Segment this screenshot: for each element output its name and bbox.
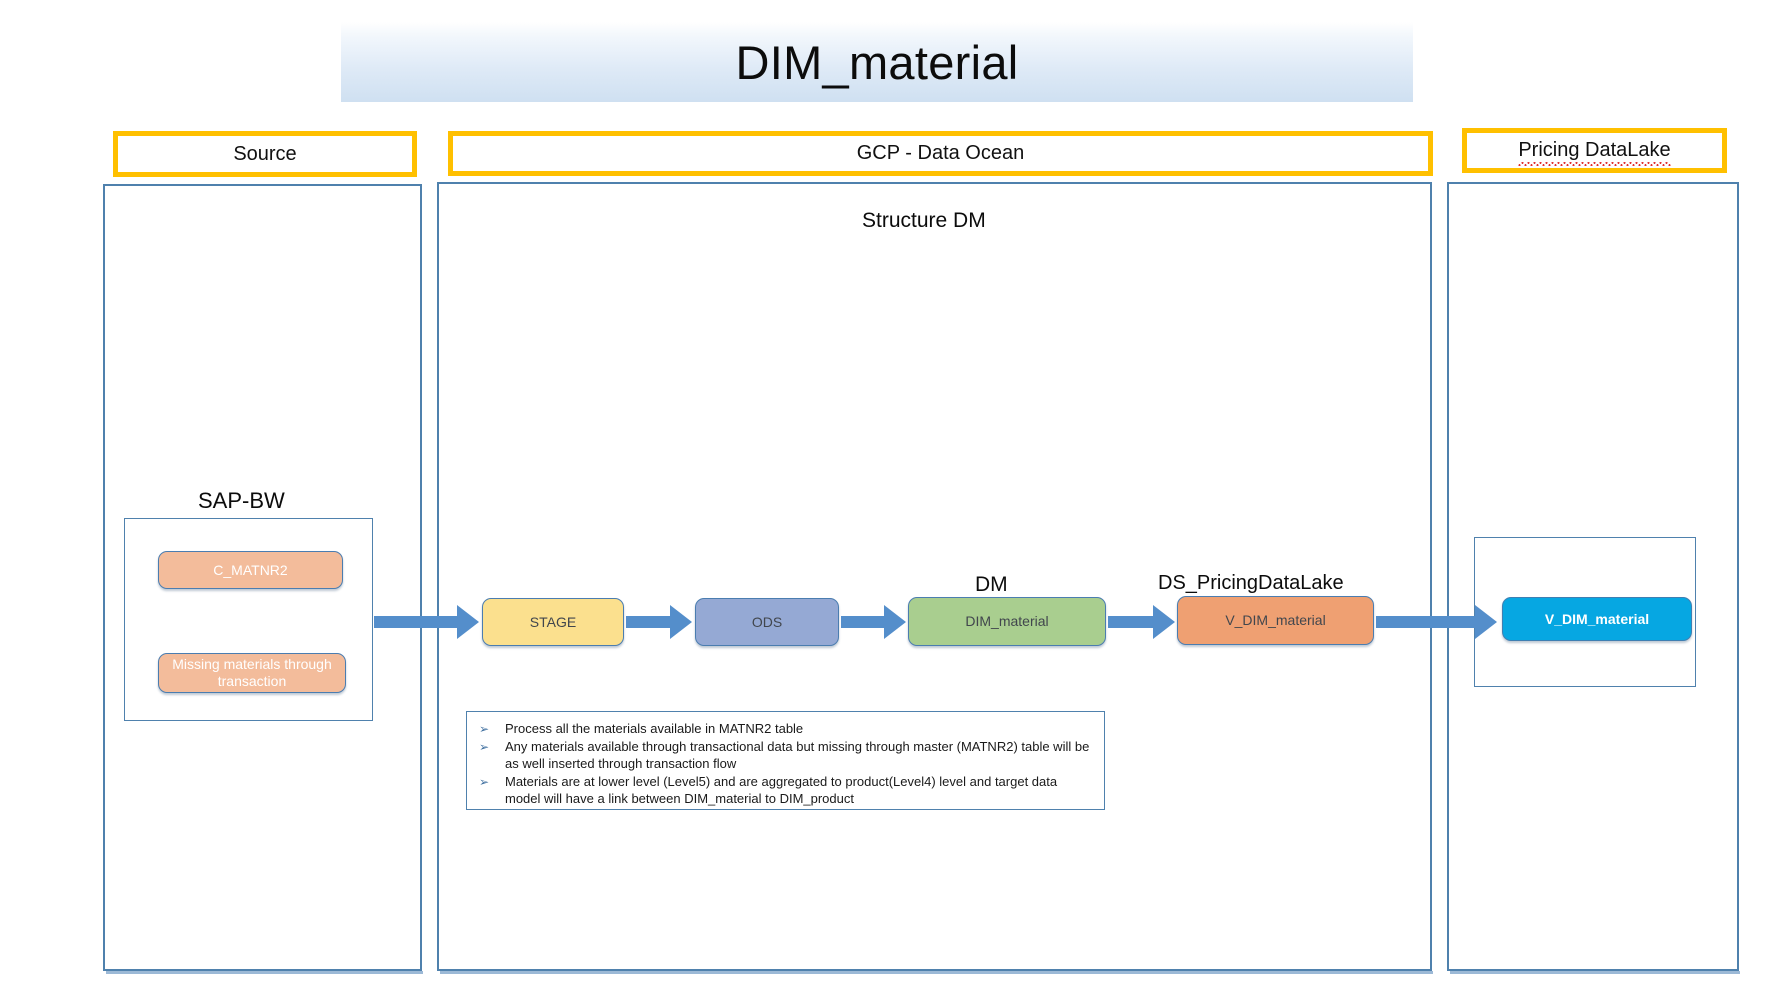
process-ods[interactable]: ODS (695, 598, 839, 646)
process-stage-label: STAGE (530, 614, 576, 631)
note-item-text: Process all the materials available in M… (505, 720, 1094, 738)
title-banner: DIM_material (341, 22, 1413, 102)
arrow-right-icon-source-to-stage (374, 616, 458, 628)
ds-pricing-datalake-label: DS_PricingDataLake (1158, 572, 1344, 595)
notes-box: ➢ Process all the materials available in… (466, 711, 1105, 810)
process-v-dim-material-ds[interactable]: V_DIM_material (1177, 596, 1374, 645)
lane-header-gcp: GCP - Data Ocean (448, 131, 1433, 176)
process-dim-material-label: DIM_material (965, 613, 1048, 630)
note-item: ➢ Process all the materials available in… (479, 720, 1094, 738)
arrow-right-icon-stage-to-ods (626, 616, 671, 628)
process-ods-label: ODS (752, 614, 782, 631)
process-dim-material[interactable]: DIM_material (908, 597, 1106, 646)
page-title: DIM_material (735, 39, 1018, 86)
lane-header-source-label: Source (233, 143, 296, 166)
lane-header-gcp-label: GCP - Data Ocean (857, 142, 1024, 165)
entity-c-matnr2[interactable]: C_MATNR2 (158, 551, 343, 589)
process-v-dim-material-dataocean[interactable]: V_DIM_material (1502, 597, 1692, 641)
note-item-text: Materials are at lower level (Level5) an… (505, 773, 1094, 808)
bullet-arrow-icon: ➢ (479, 773, 505, 790)
process-v-dim-material-ds-label: V_DIM_material (1225, 612, 1325, 629)
note-item: ➢ Materials are at lower level (Level5) … (479, 773, 1094, 808)
process-stage[interactable]: STAGE (482, 598, 624, 646)
lane-header-source: Source (113, 131, 417, 177)
bullet-arrow-icon: ➢ (479, 720, 505, 737)
note-item-text: Any materials available through transact… (505, 738, 1094, 773)
structure-dm-label: Structure DM (862, 209, 986, 233)
sap-bw-label: SAP-BW (198, 488, 285, 514)
lane-header-pricing: Pricing DataLake (1462, 128, 1727, 173)
note-item: ➢ Any materials available through transa… (479, 738, 1094, 773)
arrow-right-icon-dim-to-ds (1108, 616, 1154, 628)
arrow-right-icon-ds-to-dataocean (1376, 616, 1476, 628)
entity-missing-materials[interactable]: Missing materials through transaction (158, 653, 346, 693)
process-v-dim-material-dataocean-label: V_DIM_material (1545, 611, 1649, 628)
dm-label: DM (975, 573, 1008, 597)
entity-c-matnr2-label: C_MATNR2 (213, 562, 287, 579)
entity-missing-materials-label: Missing materials through transaction (159, 656, 345, 689)
arrow-right-icon-ods-to-dim (841, 616, 885, 628)
bullet-arrow-icon: ➢ (479, 738, 505, 755)
lane-header-pricing-label: Pricing DataLake (1518, 139, 1670, 163)
